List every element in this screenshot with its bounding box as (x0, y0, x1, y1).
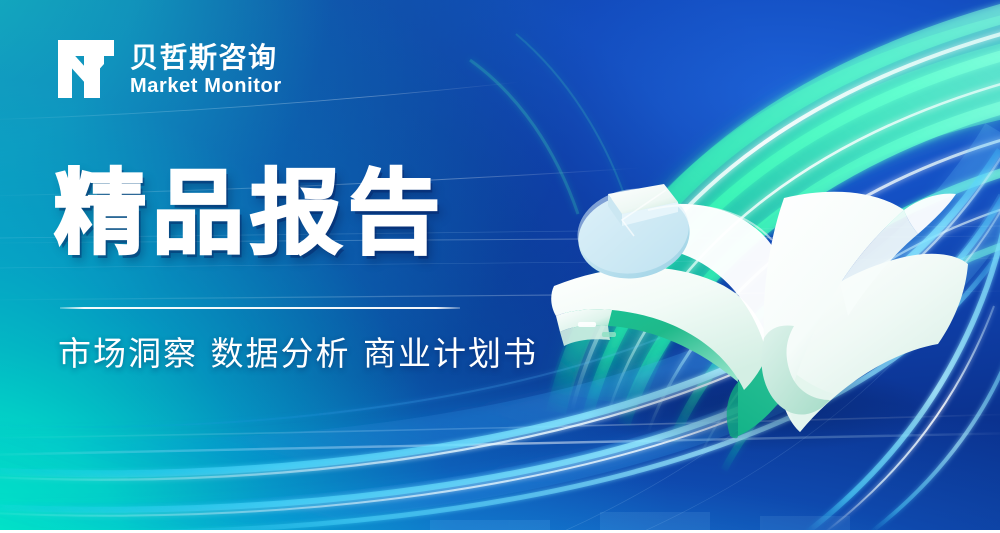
page-title: 精品报告 (54, 168, 446, 260)
title-divider (60, 307, 460, 309)
logo-english-name: Market Monitor (130, 75, 282, 97)
logo-text-block: 贝哲斯咨询 Market Monitor (130, 41, 282, 96)
logo-chinese-name: 贝哲斯咨询 (130, 43, 282, 72)
market-monitor-m-icon (56, 38, 116, 100)
report-banner: 贝哲斯咨询 Market Monitor 精品报告 市场洞察 数据分析 商业计划… (0, 0, 1000, 533)
banner-content: 贝哲斯咨询 Market Monitor 精品报告 市场洞察 数据分析 商业计划… (0, 0, 1000, 533)
brand-logo-lockup[interactable]: 贝哲斯咨询 Market Monitor (56, 38, 282, 100)
subtitle-keywords: 市场洞察 数据分析 商业计划书 (58, 333, 538, 374)
